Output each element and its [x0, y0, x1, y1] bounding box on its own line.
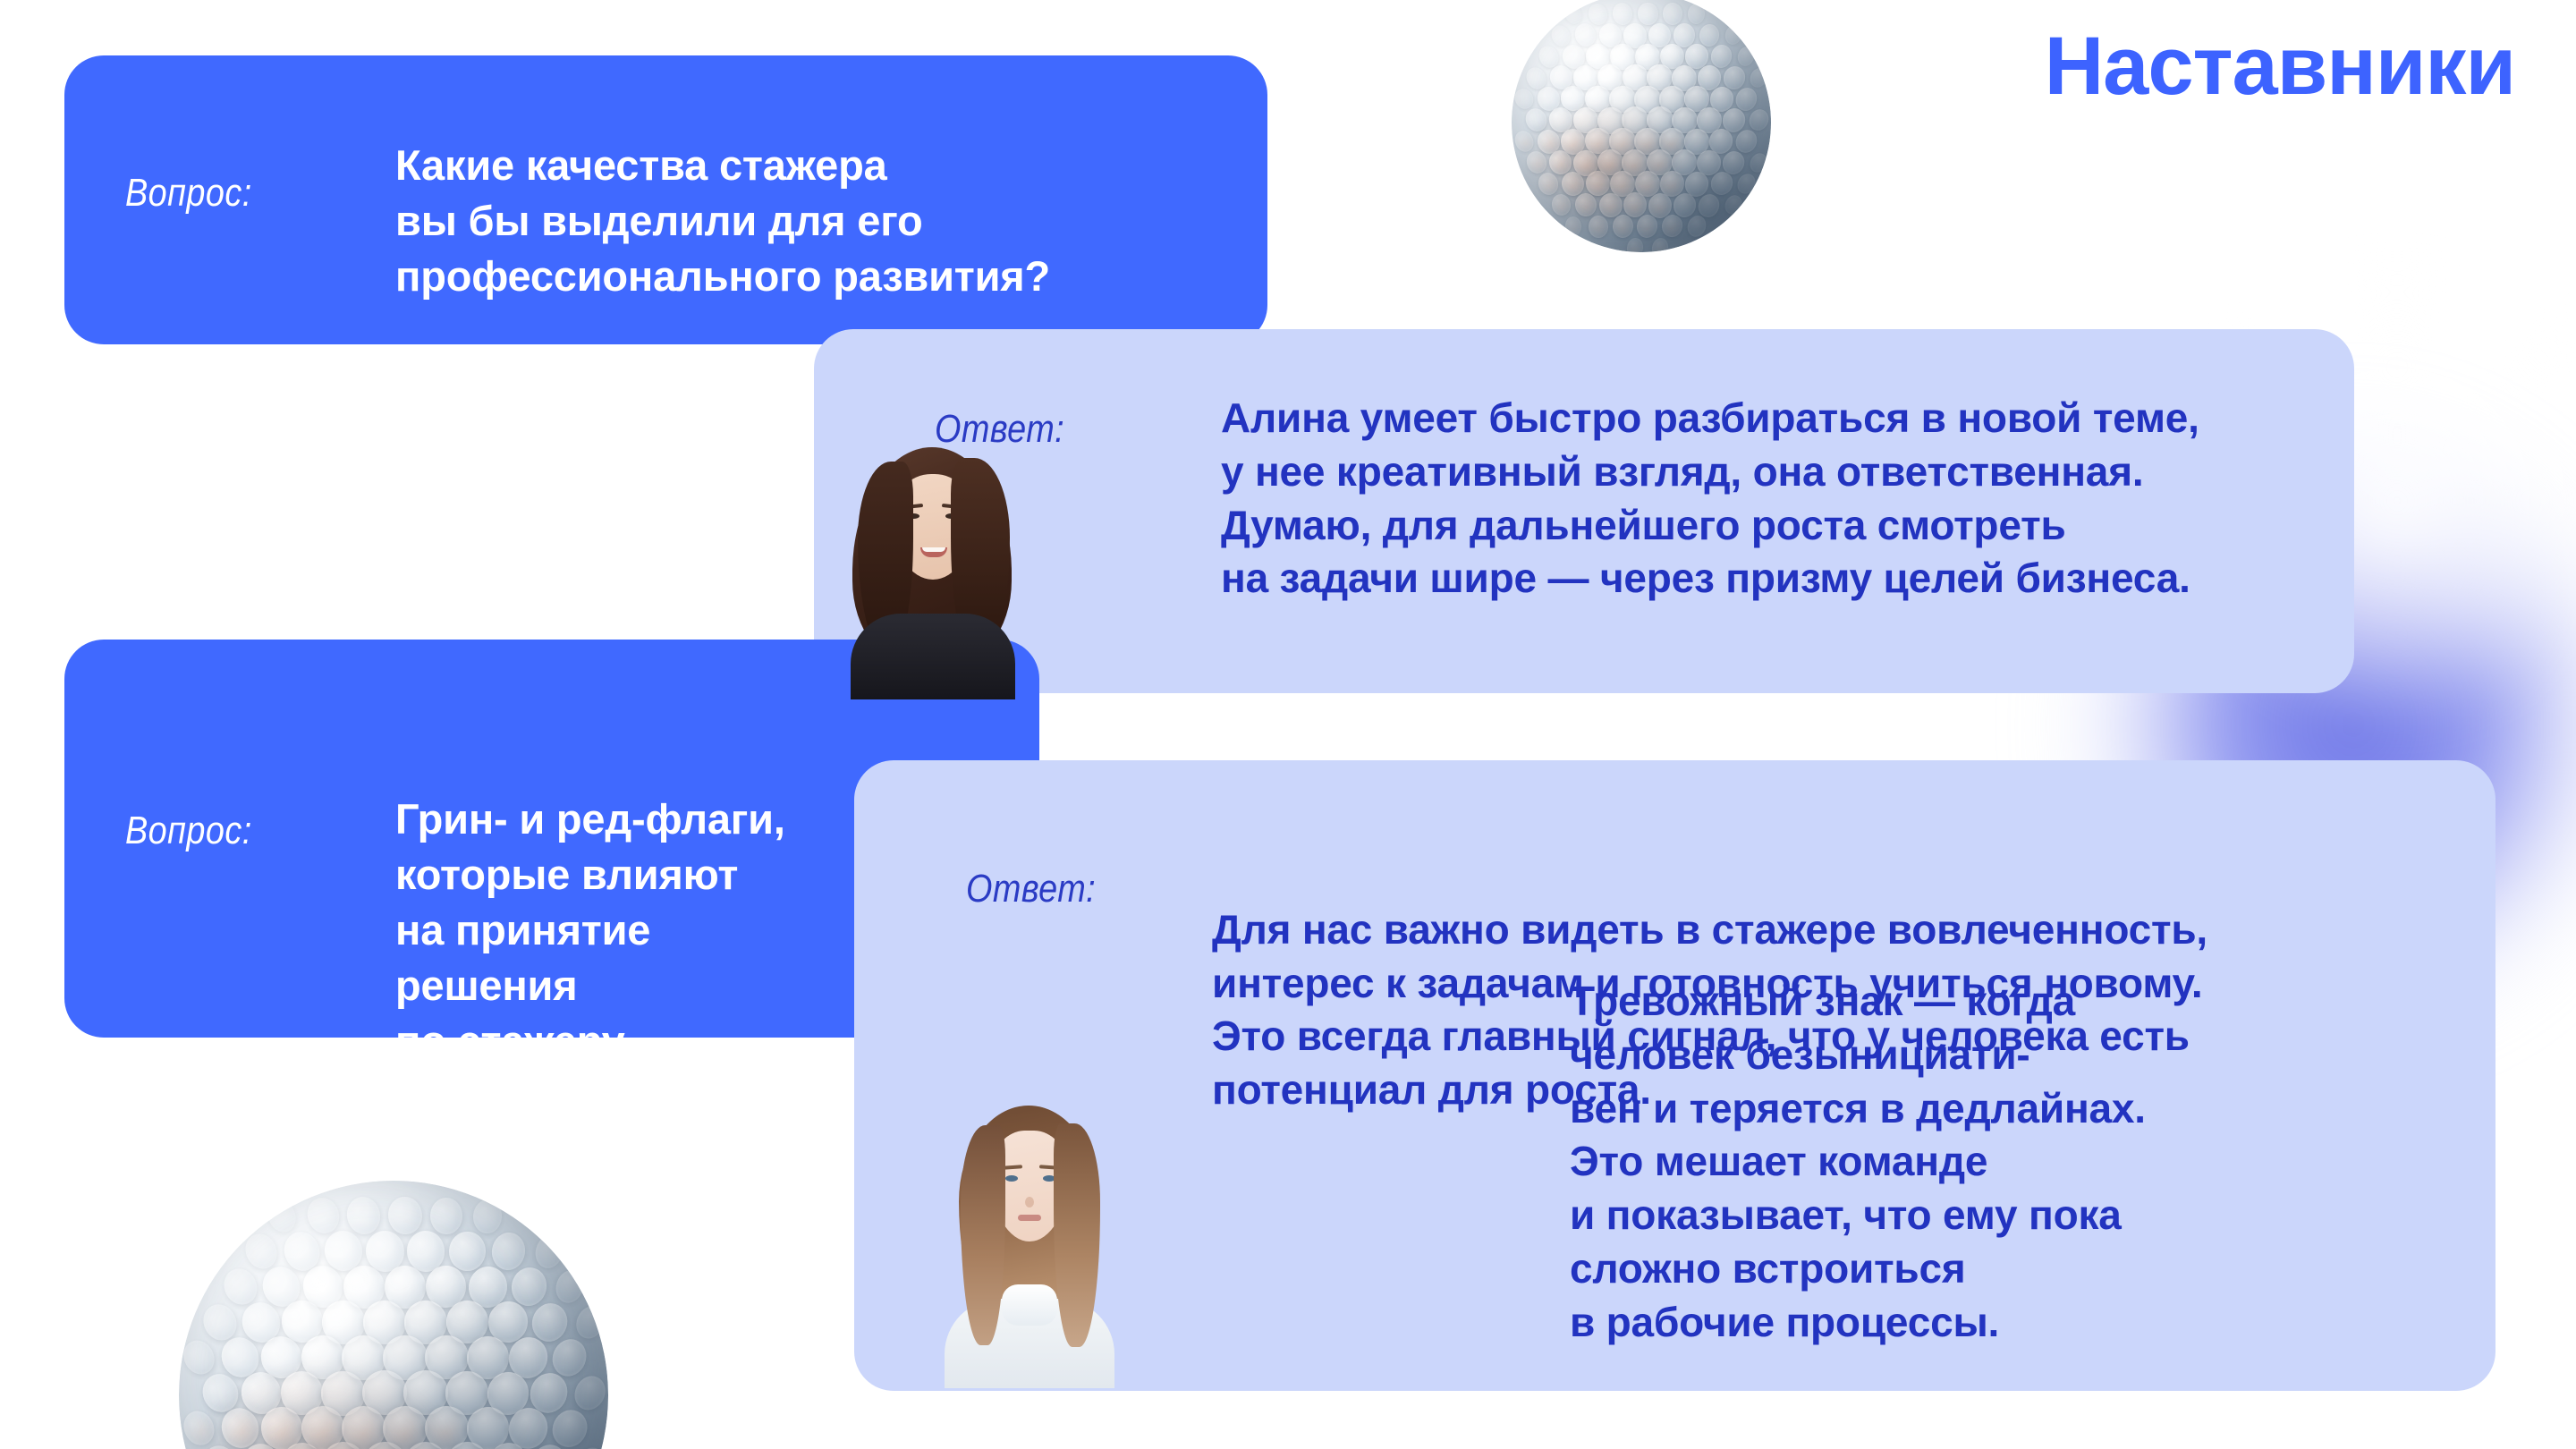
answer-label-2: Ответ:: [966, 868, 1096, 911]
answer-label-1: Ответ:: [935, 408, 1064, 451]
question-label-1: Вопрос:: [125, 172, 252, 215]
question-bubble-1: Вопрос: Какие качества стажера вы бы выд…: [64, 55, 1267, 344]
question-text-2: Грин- и ред-флаги, которые влияют на при…: [395, 792, 785, 1069]
answer-bubble-2: Ответ: Для нас важно видеть в стажере во…: [854, 760, 2495, 1391]
sphere-bottom-left-icon: [179, 1181, 608, 1449]
answer-text-2: Для нас важно видеть в стажере вовлеченн…: [1212, 850, 2207, 1171]
answer-bubble-1: Ответ: Алина умеет быстро разбираться в …: [814, 329, 2354, 693]
question-label-2: Вопрос:: [125, 809, 252, 852]
page-title: Наставники: [2045, 20, 2515, 114]
sphere-top-right-icon: [1512, 0, 1771, 252]
answer-text-2-para-2: Тревожный знак — когда человек безынициа…: [1570, 975, 2207, 1350]
slide-canvas: Наставники Вопрос: Какие качества стажер…: [0, 0, 2576, 1449]
answer-text-1: Алина умеет быстро разбираться в новой т…: [1221, 392, 2199, 606]
question-text-1: Какие качества стажера вы бы выделили дл…: [395, 138, 1050, 304]
